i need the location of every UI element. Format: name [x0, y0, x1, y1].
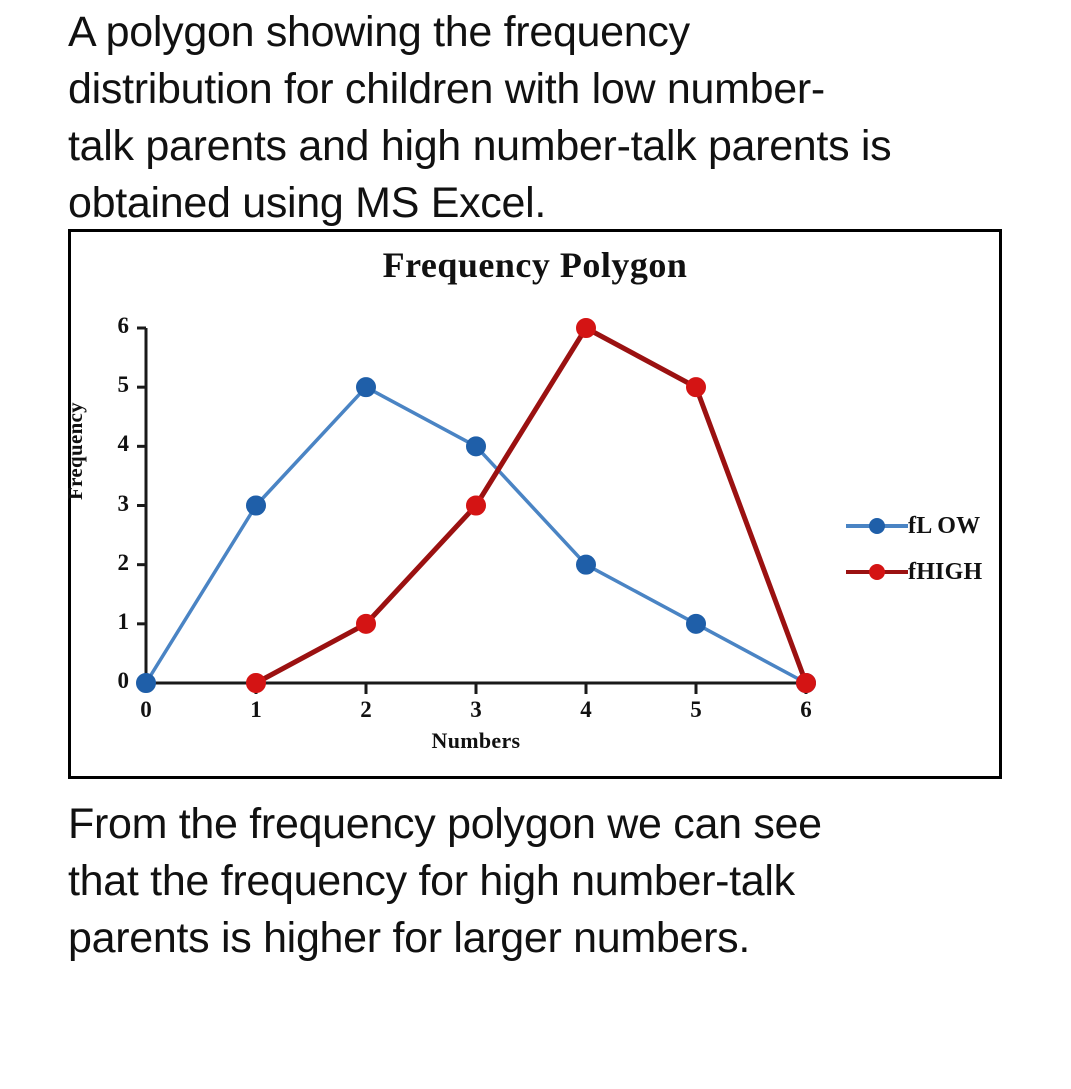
y-tick-label: 3	[99, 491, 129, 517]
legend-swatch-icon	[846, 562, 908, 582]
chart-frame: Frequency Polygon Frequency Numbers 0123…	[68, 229, 1002, 779]
y-tick-label: 4	[99, 431, 129, 457]
data-point	[577, 319, 596, 338]
series-line-0	[146, 387, 806, 683]
conclusion-paragraph: From the frequency polygon we can see th…	[68, 796, 1028, 967]
x-tick-label: 6	[786, 697, 826, 723]
data-point	[687, 614, 706, 633]
x-tick-label: 3	[456, 697, 496, 723]
chart-legend: fL OWfHIGH	[846, 503, 982, 595]
legend-marker-dot-icon	[869, 564, 885, 580]
frequency-polygon-svg	[106, 298, 846, 728]
data-point	[467, 496, 486, 515]
data-point	[797, 674, 816, 693]
data-point	[137, 674, 156, 693]
y-axis-label: Frequency	[63, 402, 88, 500]
intro-paragraph: A polygon showing the frequency distribu…	[68, 4, 1028, 232]
chart-title: Frequency Polygon	[71, 244, 999, 286]
y-tick-label: 6	[99, 313, 129, 339]
y-tick-label: 1	[99, 609, 129, 635]
y-tick-label: 2	[99, 550, 129, 576]
data-point	[467, 437, 486, 456]
legend-swatch-icon	[846, 516, 908, 536]
legend-label: fHIGH	[908, 559, 982, 586]
data-point	[357, 378, 376, 397]
data-point	[247, 496, 266, 515]
legend-label: fL OW	[908, 513, 980, 540]
x-tick-label: 0	[126, 697, 166, 723]
legend-item-fhigh[interactable]: fHIGH	[846, 549, 982, 595]
data-point	[577, 555, 596, 574]
x-axis-label: Numbers	[146, 728, 806, 754]
series-group	[137, 319, 816, 693]
y-tick-label: 0	[99, 668, 129, 694]
data-point	[357, 614, 376, 633]
data-point	[247, 674, 266, 693]
legend-marker-dot-icon	[869, 518, 885, 534]
plot-area	[146, 328, 806, 683]
x-tick-label: 4	[566, 697, 606, 723]
x-tick-label: 1	[236, 697, 276, 723]
data-point	[687, 378, 706, 397]
x-tick-label: 5	[676, 697, 716, 723]
x-tick-label: 2	[346, 697, 386, 723]
y-tick-label: 5	[99, 372, 129, 398]
legend-item-fl-ow[interactable]: fL OW	[846, 503, 982, 549]
